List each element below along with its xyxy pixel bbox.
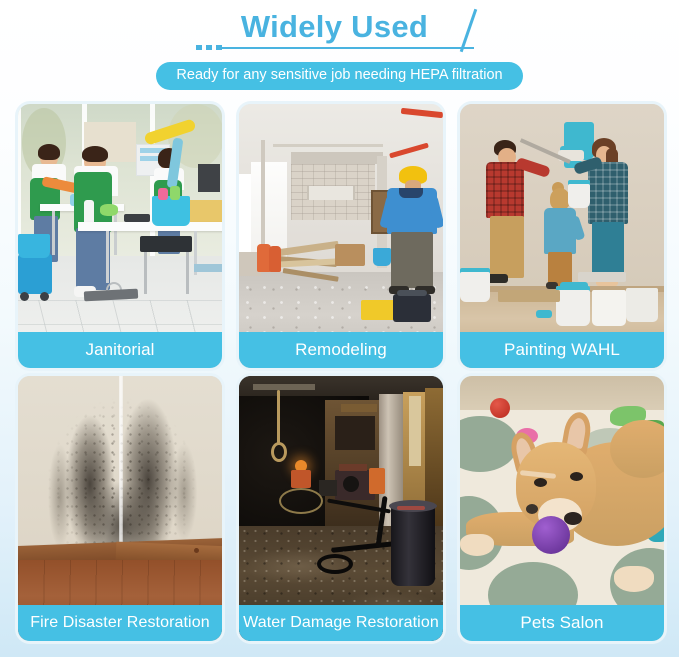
card-label-pets-salon: Pets Salon xyxy=(460,605,664,641)
header: Widely Used Ready for any sensitive job … xyxy=(0,0,679,90)
card-label-painting: Painting WAHL xyxy=(460,332,664,368)
use-case-card-janitorial[interactable]: Janitorial xyxy=(18,104,222,368)
remodeling-photo xyxy=(239,104,443,368)
card-label-remodeling: Remodeling xyxy=(239,332,443,368)
page-title-text: Widely Used xyxy=(190,8,480,46)
page-title: Widely Used xyxy=(190,6,490,58)
water-restoration-photo xyxy=(239,376,443,641)
painting-photo xyxy=(460,104,664,368)
title-slash-decoration xyxy=(454,9,484,49)
title-underline-decoration xyxy=(222,47,474,49)
card-label-water-restoration: Water Damage Restoration xyxy=(239,605,443,641)
use-case-card-painting[interactable]: Painting WAHL xyxy=(460,104,664,368)
title-dots-decoration xyxy=(196,45,222,50)
janitorial-photo xyxy=(18,104,222,368)
use-case-card-fire-restoration[interactable]: Fire Disaster Restoration xyxy=(18,376,222,641)
use-case-card-pets-salon[interactable]: Pets Salon xyxy=(460,376,664,641)
fire-restoration-photo xyxy=(18,376,222,641)
pets-salon-photo xyxy=(460,376,664,641)
card-label-janitorial: Janitorial xyxy=(18,332,222,368)
use-case-grid: Janitorial xyxy=(18,104,664,641)
use-case-card-water-restoration[interactable]: Water Damage Restoration xyxy=(239,376,443,641)
card-label-fire-restoration: Fire Disaster Restoration xyxy=(18,605,222,641)
use-case-card-remodeling[interactable]: Remodeling xyxy=(239,104,443,368)
subtitle-pill: Ready for any sensitive job needing HEPA… xyxy=(156,62,522,90)
